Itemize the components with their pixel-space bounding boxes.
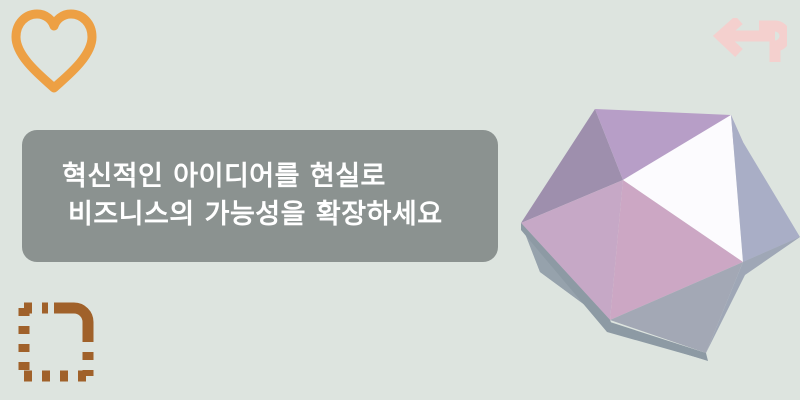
- icosahedron-3d-graphic: [500, 80, 800, 380]
- dashed-frame-icon: [18, 300, 98, 390]
- promo-banner: 혁신적인 아이디어를 현실로 비즈니스의 가능성을 확장하세요: [0, 0, 800, 400]
- headline-line-1: 혁신적인 아이디어를 현실로: [62, 158, 386, 196]
- headline-card: 혁신적인 아이디어를 현실로 비즈니스의 가능성을 확장하세요: [22, 130, 498, 262]
- undo-arrow-icon: [713, 18, 787, 80]
- facet-right-edge: [731, 115, 800, 262]
- headline-line-2: 비즈니스의 가능성을 확장하세요: [68, 196, 443, 234]
- heart-icon: [6, 6, 102, 96]
